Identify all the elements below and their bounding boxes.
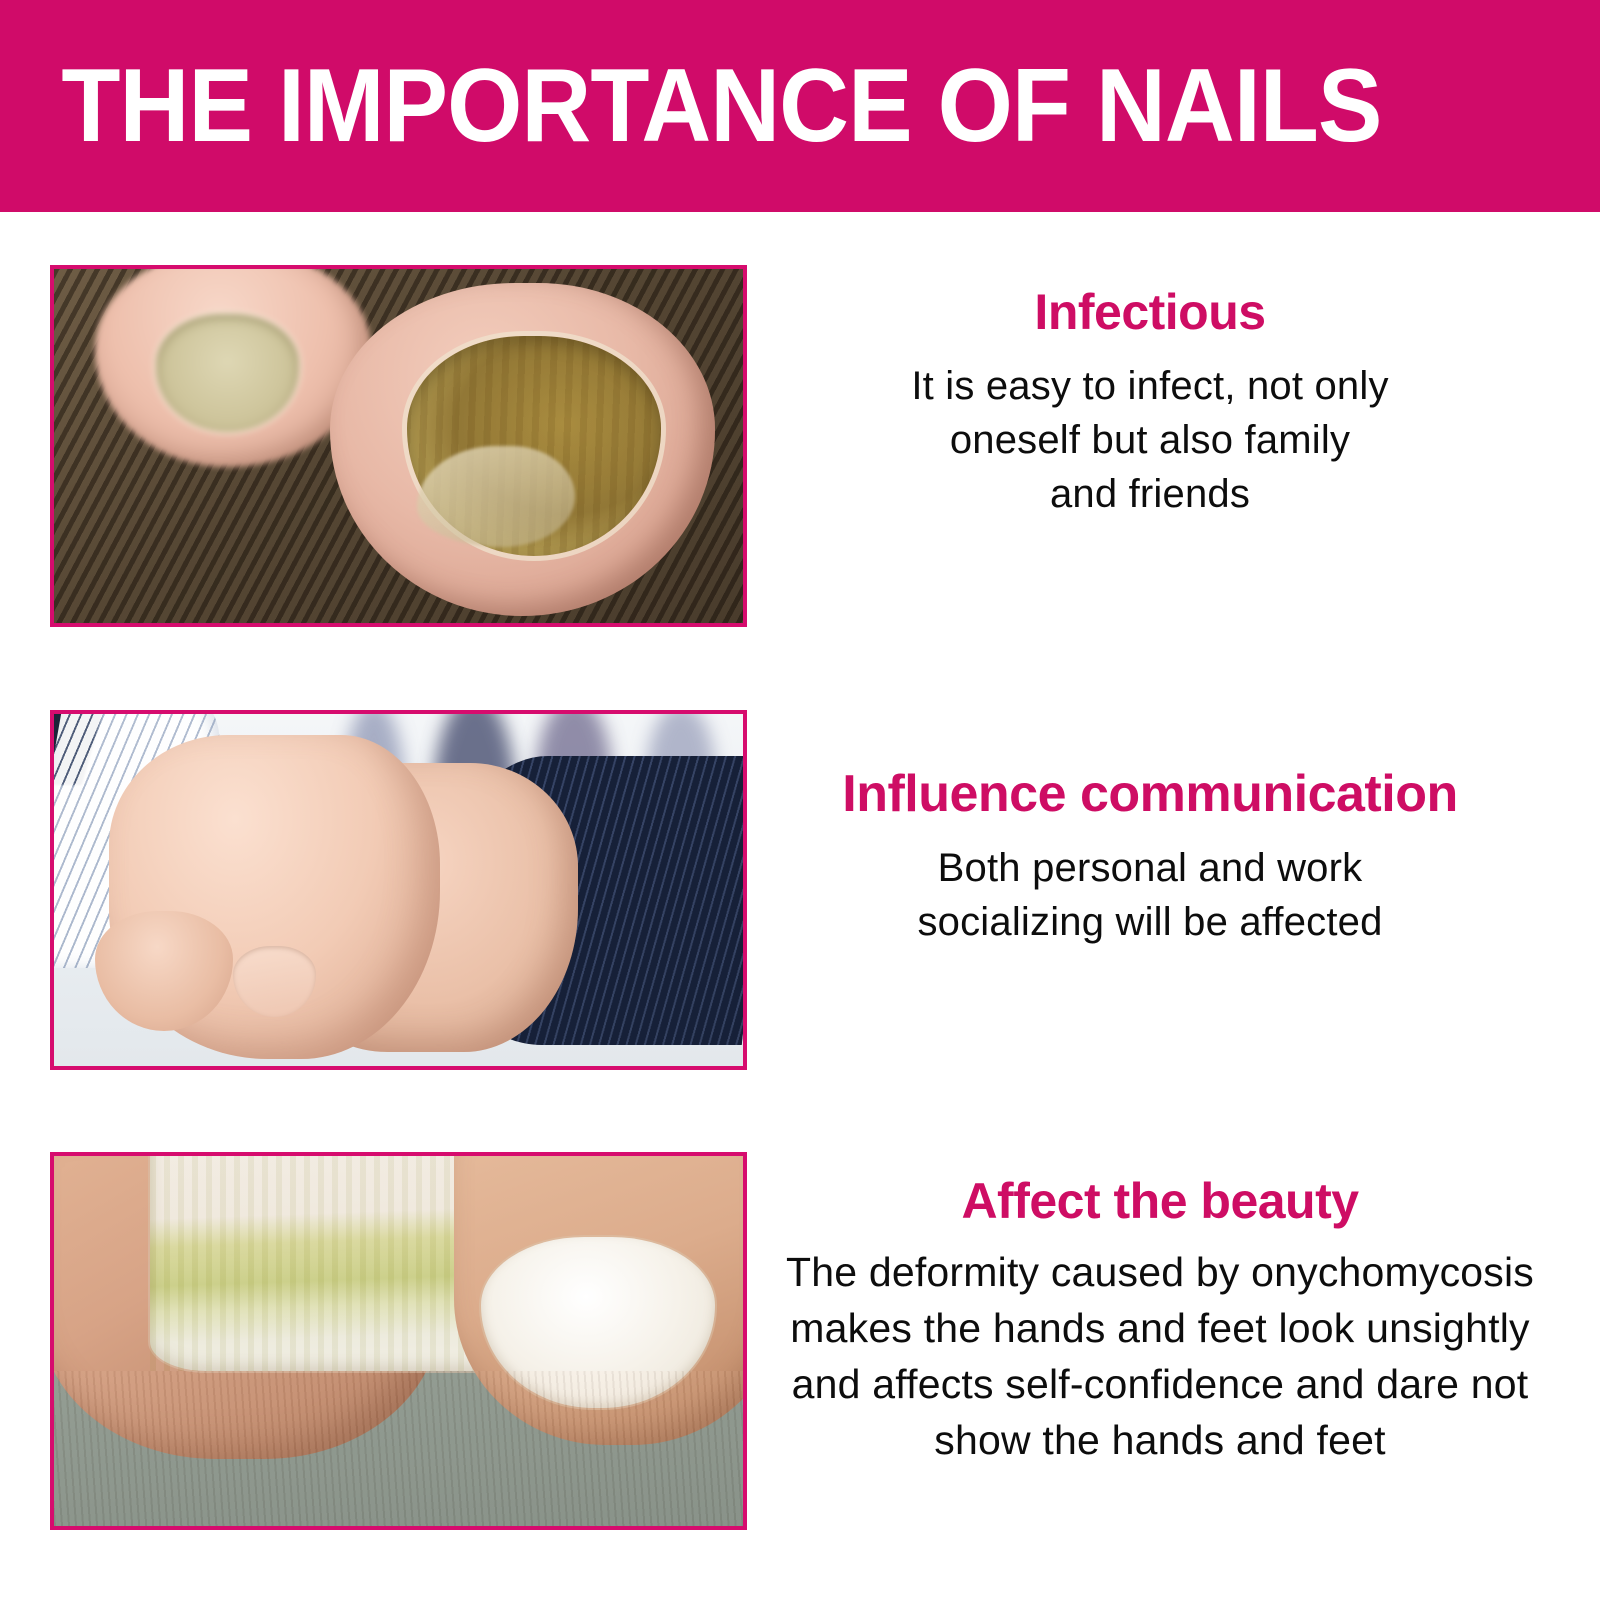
discolored-toenail-photo	[50, 1152, 747, 1530]
section-heading-influence-communication: Influence communication	[800, 765, 1500, 823]
skin-texture-overlay	[54, 1371, 743, 1526]
section-influence-communication: Influence communication Both personal an…	[0, 710, 1600, 1070]
text-block-affect-the-beauty: Affect the beauty The deformity caused b…	[770, 1172, 1550, 1468]
text-block-infectious: Infectious It is easy to infect, not onl…	[800, 283, 1500, 521]
toenail-crumbling-area	[417, 446, 575, 547]
body-line: and affects self-confidence and dare not	[770, 1356, 1550, 1412]
text-block-influence-communication: Influence communication Both personal an…	[800, 765, 1500, 949]
photo-canvas	[54, 714, 743, 1066]
body-line: oneself but also family	[800, 413, 1500, 467]
section-affect-the-beauty: Affect the beauty The deformity caused b…	[0, 1152, 1600, 1530]
section-infectious: Infectious It is easy to infect, not onl…	[0, 265, 1600, 627]
toenail-large-shape	[407, 336, 662, 556]
body-line: show the hands and feet	[770, 1412, 1550, 1468]
page-title: THE IMPORTANCE OF NAILS	[0, 54, 1382, 158]
infographic-poster: THE IMPORTANCE OF NAILS Infectious It is…	[0, 0, 1600, 1600]
section-heading-infectious: Infectious	[800, 283, 1500, 341]
section-body-infectious: It is easy to infect, not only oneself b…	[800, 359, 1500, 521]
body-line: Both personal and work	[800, 841, 1500, 895]
photo-canvas	[54, 1156, 743, 1526]
toenail-small-shape	[156, 314, 299, 433]
section-body-influence-communication: Both personal and work socializing will …	[800, 841, 1500, 949]
photo-canvas	[54, 269, 743, 623]
business-handshake-photo	[50, 710, 747, 1070]
body-line: and friends	[800, 467, 1500, 521]
body-line: It is easy to infect, not only	[800, 359, 1500, 413]
infected-toenails-photo	[50, 265, 747, 627]
section-heading-affect-the-beauty: Affect the beauty	[770, 1172, 1550, 1230]
body-line: socializing will be affected	[800, 895, 1500, 949]
header-banner: THE IMPORTANCE OF NAILS	[0, 0, 1600, 212]
body-line: makes the hands and feet look unsightly	[770, 1300, 1550, 1356]
body-line: The deformity caused by onychomycosis	[770, 1244, 1550, 1300]
section-body-affect-the-beauty: The deformity caused by onychomycosis ma…	[770, 1244, 1550, 1468]
toe-large-shape	[330, 283, 716, 616]
